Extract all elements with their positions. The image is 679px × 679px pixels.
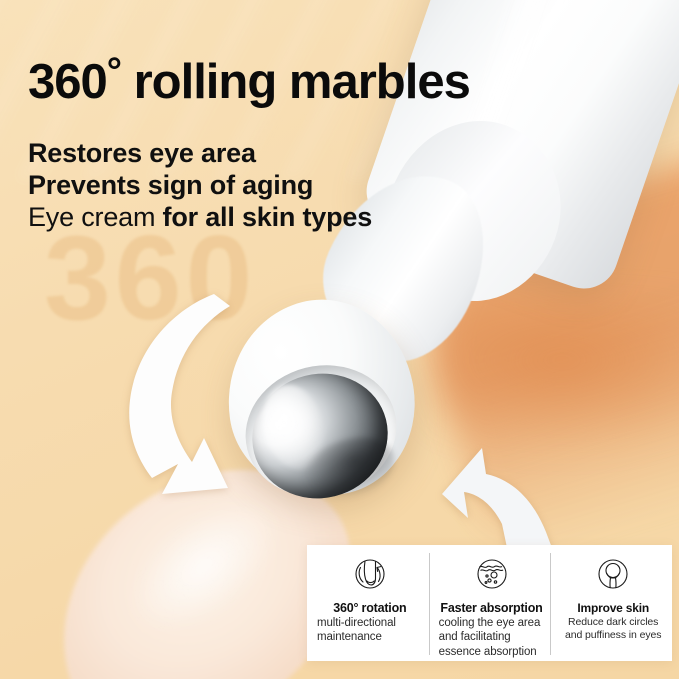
subheadline-3-light: Eye cream (28, 202, 163, 232)
feature-desc-improve-skin: Reduce dark circlesand puffiness in eyes (560, 616, 666, 642)
subheadline-list: Restores eye area Prevents sign of aging… (28, 138, 372, 234)
feature-panel: 360° rotation multi-directionalmaintenan… (307, 545, 672, 661)
applicator-ball-icon (591, 554, 635, 598)
rotation-arrow-left-icon (118, 288, 278, 498)
page-title: 360° rolling marbles (28, 53, 470, 107)
degree-symbol: ° (107, 51, 121, 93)
feature-title-absorption: Faster absorption (439, 601, 545, 615)
feature-desc-rotation: multi-directionalmaintenance (317, 616, 396, 645)
feature-card-improve-skin: Improve skin Reduce dark circlesand puff… (550, 545, 672, 661)
feature-title-rotation: 360° rotation (317, 601, 423, 615)
feature-desc-absorption: cooling the eye areaand facilitatingesse… (439, 616, 541, 659)
subheadline-2: Prevents sign of aging (28, 170, 372, 202)
headline-360: 360 (28, 55, 107, 109)
feature-card-absorption: Faster absorption cooling the eye areaan… (429, 545, 551, 661)
roller-rotation-icon (348, 554, 392, 598)
water-bubbles-icon (470, 554, 514, 598)
subheadline-3: Eye cream for all skin types (28, 202, 372, 234)
subheadline-1: Restores eye area (28, 138, 372, 170)
feature-title-improve-skin: Improve skin (560, 601, 666, 615)
feature-card-rotation: 360° rotation multi-directionalmaintenan… (307, 545, 429, 661)
subheadline-3-bold: for all skin types (163, 202, 372, 232)
background-shadow-soft (430, 300, 679, 450)
headline-rest: rolling marbles (121, 55, 470, 109)
product-marketing-image: 360 360° rolling marbles Restores eye ar… (0, 0, 679, 679)
